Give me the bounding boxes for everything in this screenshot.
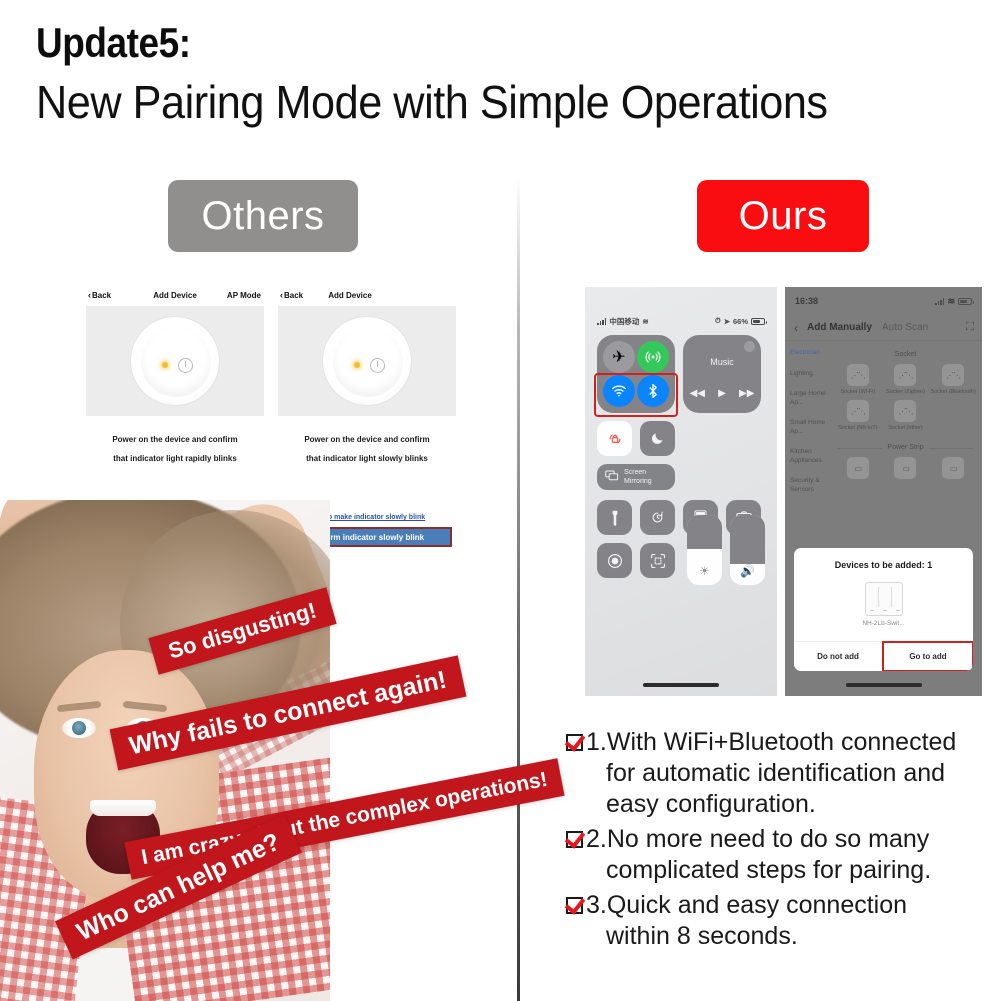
brightness-icon: ☀ bbox=[699, 564, 710, 578]
devices-found-dialog: Devices to be added: 1 NH-2Lb-Swit... Do… bbox=[794, 548, 973, 671]
previous-track-icon[interactable]: ◀◀ bbox=[690, 388, 705, 399]
cc-second-row bbox=[597, 421, 765, 456]
benefit-item-1: 1.With WiFi+Bluetooth connected for auto… bbox=[566, 727, 991, 820]
device-circle bbox=[322, 316, 412, 406]
status-right: ⏱ ➤ 66% bbox=[715, 316, 765, 326]
flashlight-icon[interactable] bbox=[597, 500, 632, 535]
dialog-buttons: Do not add Go to add bbox=[794, 641, 973, 671]
benefit-3-line-2: within 8 seconds. bbox=[586, 921, 907, 952]
vertical-divider bbox=[517, 178, 520, 1001]
others-label: Others bbox=[168, 180, 358, 252]
go-to-add-button[interactable]: Go to add bbox=[882, 641, 973, 671]
home-indicator bbox=[846, 683, 922, 687]
app1-navbar: ‹ Back Add Device AP Mode bbox=[84, 284, 266, 306]
teeth bbox=[90, 800, 156, 816]
next-track-icon[interactable]: ▶▶ bbox=[739, 388, 754, 399]
rotation-lock-icon[interactable] bbox=[597, 421, 632, 456]
app1-device-illustration bbox=[86, 306, 264, 416]
do-not-disturb-icon[interactable] bbox=[640, 421, 675, 456]
app2-title: Add Device bbox=[276, 291, 458, 300]
app1-caption-line2: that indicator light rapidly blinks bbox=[84, 449, 266, 468]
smart-app-screenshot: 16:38 ≋ ‹ Add Manually Auto Scan ⛶ Elect… bbox=[785, 287, 982, 696]
control-center-screenshot: 中国移动 ≋ ⏱ ➤ 66% ✈ bbox=[585, 287, 777, 696]
location-icon: ➤ bbox=[724, 317, 730, 326]
dialog-device-name: NH-2Lb-Swit... bbox=[794, 620, 973, 641]
benefit-text-1: 1.With WiFi+Bluetooth connected for auto… bbox=[586, 727, 956, 820]
ours-label: Ours bbox=[697, 180, 869, 252]
control-center-grid: ✈ bbox=[597, 335, 765, 578]
qr-scanner-icon[interactable] bbox=[640, 543, 675, 578]
battery-icon bbox=[751, 318, 765, 325]
checkbox-checked-icon bbox=[566, 831, 583, 848]
benefit-text-2: 2.No more need to do so many complicated… bbox=[586, 824, 931, 886]
benefit-2-line-1: 2.No more need to do so many bbox=[586, 825, 929, 853]
checkbox-checked-icon bbox=[566, 734, 583, 751]
indicator-light-icon bbox=[354, 362, 360, 368]
benefit-3-line-1: 3.Quick and easy connection bbox=[586, 891, 907, 919]
power-button-icon bbox=[370, 358, 385, 373]
screen-record-icon[interactable] bbox=[597, 543, 632, 578]
app1-caption-line1: Power on the device and confirm bbox=[84, 430, 266, 449]
wifi-bluetooth-highlight bbox=[594, 373, 678, 417]
promo-page: Update5: New Pairing Mode with Simple Op… bbox=[0, 0, 1001, 1001]
timer-icon[interactable] bbox=[640, 500, 675, 535]
airplane-mode-icon[interactable]: ✈ bbox=[603, 341, 635, 373]
device-circle bbox=[130, 316, 220, 406]
benefit-2-line-2: complicated steps for pairing. bbox=[586, 855, 931, 886]
device-thumbnail bbox=[865, 582, 903, 616]
airplay-icon[interactable] bbox=[744, 341, 755, 352]
battery-percent: 66% bbox=[733, 317, 748, 326]
signal-bars-icon bbox=[597, 318, 606, 325]
brightness-fill bbox=[687, 515, 722, 549]
benefits-list: 1.With WiFi+Bluetooth connected for auto… bbox=[566, 727, 991, 956]
headline-line-2: New Pairing Mode with Simple Operations bbox=[36, 74, 929, 130]
brightness-slider[interactable]: ☀ bbox=[687, 515, 722, 585]
app2-navbar: ‹ Back Add Device bbox=[276, 284, 458, 306]
headline-line-1: Update5: bbox=[36, 18, 872, 68]
benefit-1-line-3: easy configuration. bbox=[586, 789, 956, 820]
sliders-group: ☀ 🔊 bbox=[687, 515, 765, 585]
screen-mirroring-icon bbox=[605, 470, 619, 484]
home-indicator bbox=[643, 683, 719, 687]
screen-mirroring-label: Screen Mirroring bbox=[624, 468, 675, 486]
do-not-add-button[interactable]: Do not add bbox=[794, 642, 882, 671]
indicator-light-icon bbox=[162, 362, 168, 368]
screen-mirroring-button[interactable]: Screen Mirroring bbox=[597, 464, 675, 490]
app2-caption-line1: Power on the device and confirm bbox=[276, 430, 458, 449]
app2-device-illustration bbox=[278, 306, 456, 416]
status-bar: 中国移动 ≋ ⏱ ➤ 66% bbox=[597, 315, 765, 327]
volume-icon: 🔊 bbox=[740, 564, 755, 578]
iris-left bbox=[72, 721, 86, 735]
benefit-item-3: 3.Quick and easy connection within 8 sec… bbox=[566, 890, 991, 952]
benefit-1-line-2: for automatic identification and bbox=[586, 758, 956, 789]
headline: Update5: New Pairing Mode with Simple Op… bbox=[36, 18, 986, 130]
alarm-icon: ⏱ bbox=[715, 316, 721, 326]
music-module[interactable]: Music ◀◀ ▶ ▶▶ bbox=[683, 335, 761, 413]
volume-slider[interactable]: 🔊 bbox=[730, 515, 765, 585]
benefit-item-2: 2.No more need to do so many complicated… bbox=[566, 824, 991, 886]
benefit-1-line-1: 1.With WiFi+Bluetooth connected bbox=[586, 728, 956, 756]
power-button-icon bbox=[178, 358, 193, 373]
status-left: 中国移动 ≋ bbox=[597, 316, 649, 327]
cellular-data-icon[interactable] bbox=[637, 341, 669, 373]
app1-ap-mode-button[interactable]: AP Mode bbox=[227, 291, 261, 300]
connectivity-module: ✈ bbox=[597, 335, 675, 413]
wifi-icon: ≋ bbox=[642, 317, 648, 326]
music-controls: ◀◀ ▶ ▶▶ bbox=[683, 388, 761, 399]
app2-caption-line2: that indicator light slowly blinks bbox=[276, 449, 458, 468]
carrier-label: 中国移动 bbox=[609, 316, 639, 327]
dialog-title: Devices to be added: 1 bbox=[794, 548, 973, 576]
cc-top-row: ✈ bbox=[597, 335, 765, 413]
play-icon[interactable]: ▶ bbox=[718, 388, 726, 399]
volume-fill bbox=[730, 515, 765, 564]
music-label: Music bbox=[683, 357, 761, 367]
checkbox-checked-icon bbox=[566, 897, 583, 914]
benefit-text-3: 3.Quick and easy connection within 8 sec… bbox=[586, 890, 907, 952]
